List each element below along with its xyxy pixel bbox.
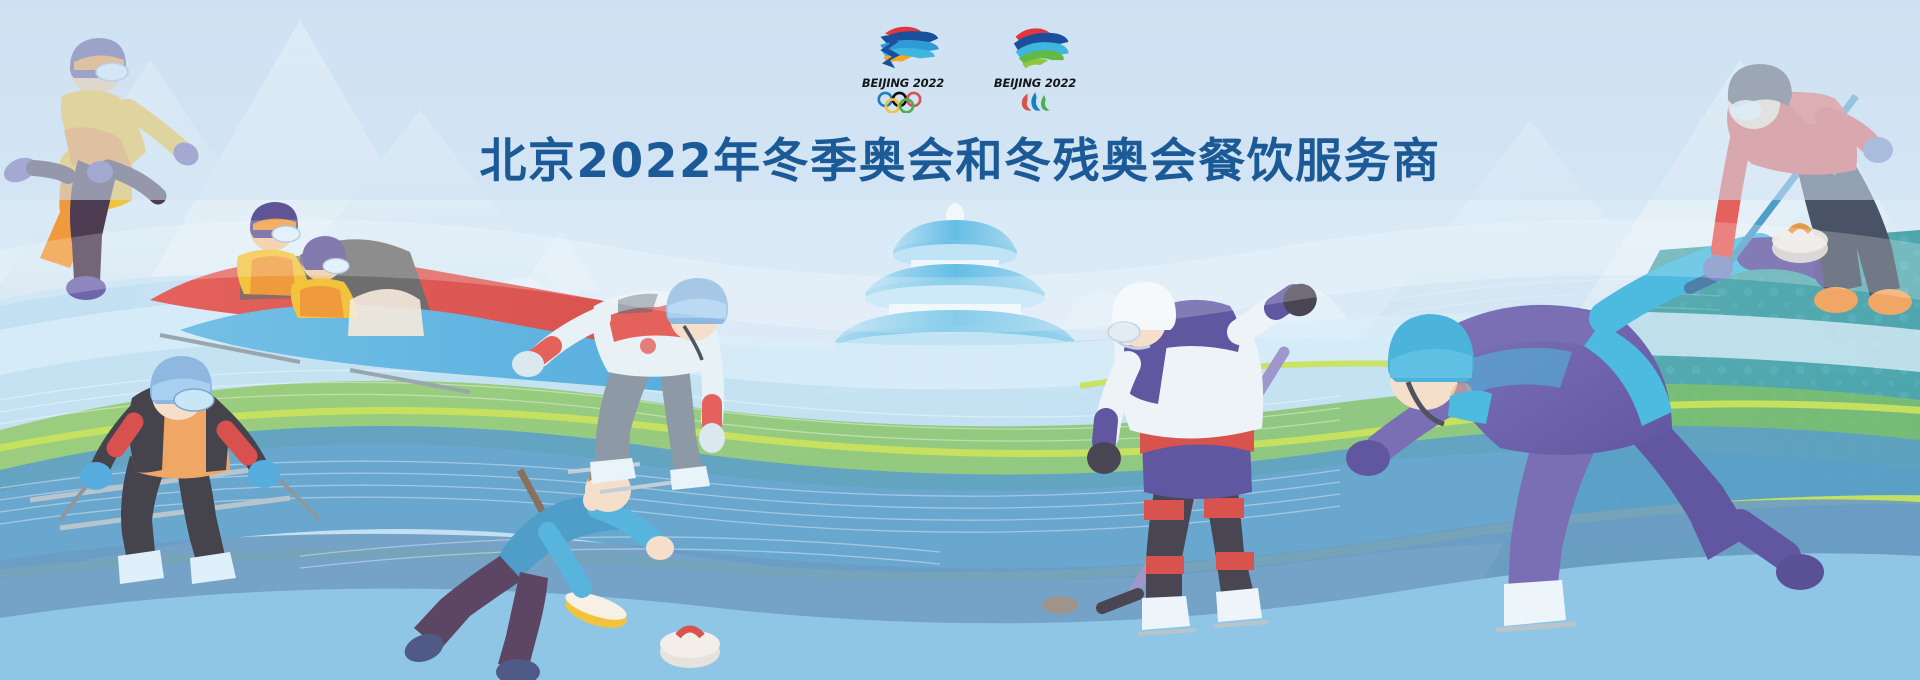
chevron-decoration bbox=[520, 230, 600, 400]
paralympic-agitos bbox=[1003, 91, 1068, 113]
olympic-wordmark: BEIJING 2022 bbox=[860, 76, 946, 90]
beijing-2022-paralympic-emblem: BEIJING 2022 bbox=[992, 22, 1078, 118]
bobsleigh-team bbox=[0, 38, 679, 392]
page-title: 北京2022年冬季奥会和冬残奥会餐饮服务商 bbox=[0, 122, 1920, 191]
emblem-row: BEIJING 2022 BEIJING 2022 bbox=[860, 22, 1080, 122]
olympic-rings bbox=[871, 91, 936, 113]
alpine-skier bbox=[30, 356, 320, 584]
olympic-banner: BEIJING 2022 BEIJING 2022 bbox=[0, 0, 1920, 680]
speed-skater-left bbox=[512, 278, 728, 492]
bobsleigh-rider-1 bbox=[237, 202, 310, 296]
bobsleigh-rider-2 bbox=[291, 236, 358, 318]
ice-hockey-player bbox=[1042, 278, 1323, 634]
olympic-emblem-mark bbox=[862, 22, 945, 70]
speed-skater-right bbox=[1346, 250, 1858, 630]
paralympic-wordmark: BEIJING 2022 bbox=[992, 76, 1078, 90]
beijing-2022-olympic-emblem: BEIJING 2022 bbox=[860, 22, 946, 118]
paralympic-emblem-mark bbox=[994, 22, 1077, 70]
background-arcs bbox=[460, 278, 1360, 341]
curler-sweeping bbox=[401, 462, 720, 680]
